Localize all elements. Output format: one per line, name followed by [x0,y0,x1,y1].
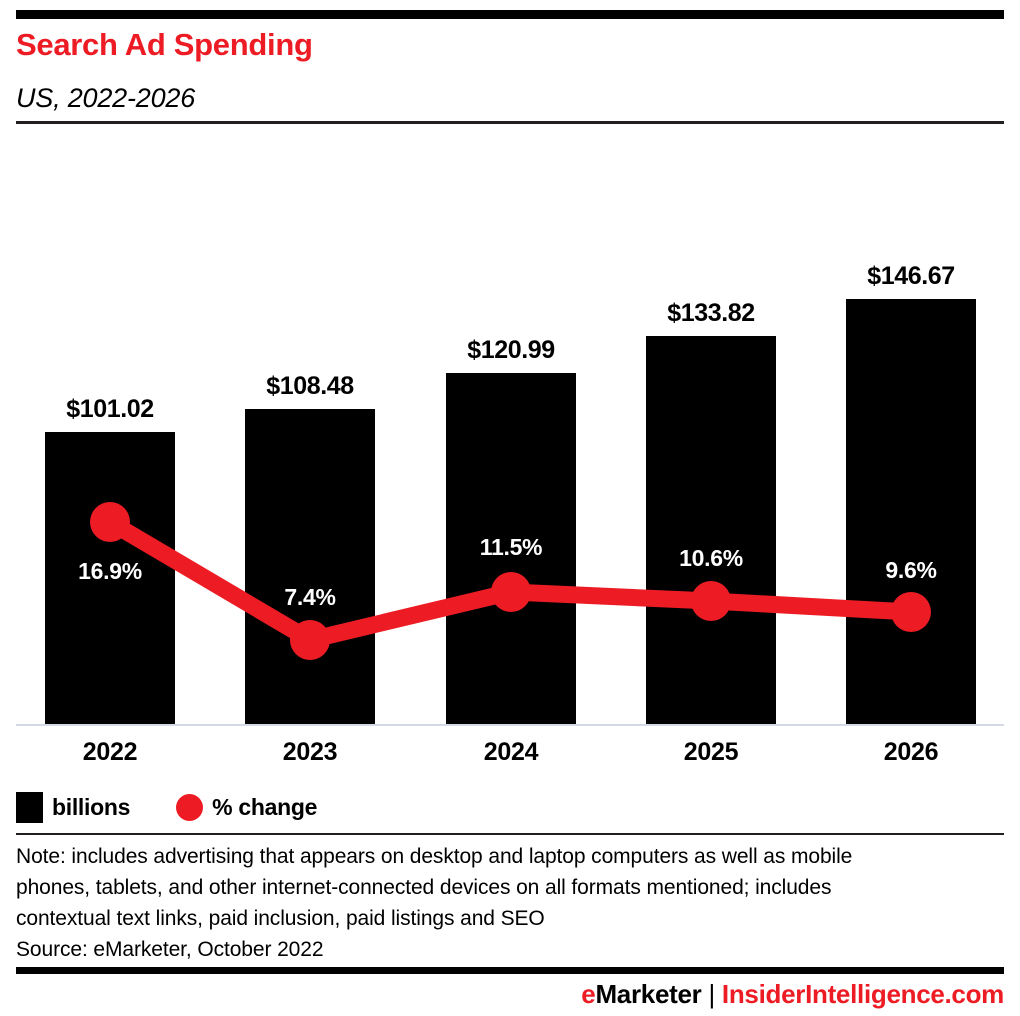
header-divider [16,121,1004,124]
footer-rule [16,967,1004,974]
legend-square-icon [16,792,43,823]
legend-label-percent-change: % change [212,794,317,821]
bar-value-label-2023: $108.48 [230,372,390,401]
bar-2023 [245,409,375,724]
note-line-2: phones, tablets, and other internet-conn… [16,872,986,903]
pct-label-2025: 10.6% [631,545,791,572]
legend-circle-icon [176,794,203,821]
x-tick-2025: 2025 [631,738,791,767]
axis-baseline [16,724,1004,726]
legend-divider [16,833,1004,835]
brand-site: InsiderIntelligence.com [722,979,1004,1010]
chart-legend: billions % change [16,790,317,824]
legend-label-billions: billions [52,794,130,821]
pct-label-2024: 11.5% [431,534,591,561]
pct-label-2023: 7.4% [230,584,390,611]
pct-label-2026: 9.6% [831,557,991,584]
brand-e: e [581,979,595,1010]
legend-item-billions: billions [16,792,130,823]
bar-value-label-2026: $146.67 [831,262,991,291]
pct-label-2022: 16.9% [30,558,190,585]
x-tick-2023: 2023 [230,738,390,767]
bar-2025 [646,336,776,724]
bar-value-label-2022: $101.02 [30,395,190,424]
notes-block: Note: includes advertising that appears … [16,841,986,965]
source-line: Source: eMarketer, October 2022 [16,934,986,965]
x-tick-2024: 2024 [431,738,591,767]
brand-separator: | [708,979,714,1010]
chart-page: Search Ad Spending US, 2022-2026 $101.02… [0,0,1020,1016]
legend-item-percent-change: % change [176,794,317,821]
page-title: Search Ad Spending [16,26,313,64]
bar-value-label-2024: $120.99 [431,336,591,365]
top-rule [16,10,1004,19]
bar-value-label-2025: $133.82 [631,299,791,328]
x-tick-2026: 2026 [831,738,991,767]
bar-2026 [846,299,976,724]
note-line-3: contextual text links, paid inclusion, p… [16,903,986,934]
page-subtitle: US, 2022-2026 [16,82,195,115]
brand-marketer: Marketer [595,979,701,1010]
footer-brand: eMarketer | InsiderIntelligence.com [581,979,1004,1010]
x-tick-2022: 2022 [30,738,190,767]
note-line-1: Note: includes advertising that appears … [16,841,986,872]
